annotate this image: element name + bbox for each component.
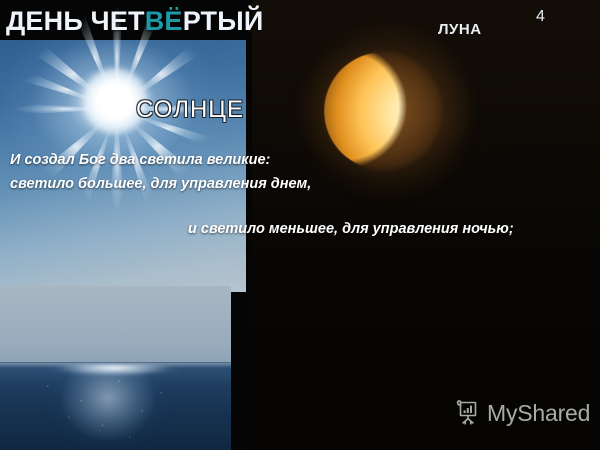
verse-line-3: и светило меньшее, для управления ночью; xyxy=(188,221,514,237)
moon-crescent xyxy=(324,52,442,170)
presentation-chart-icon xyxy=(455,399,481,427)
verse-line-2: светило большее, для управления днем, xyxy=(10,176,311,192)
slide-title-part-1: ДЕНЬ ЧЕТ xyxy=(6,6,145,36)
slide-title-part-2: ВЁ xyxy=(145,6,183,36)
moon-label: ЛУНА xyxy=(438,21,482,38)
sea-glitter-speckles xyxy=(10,368,220,450)
slide-number: 4 xyxy=(536,8,545,26)
myshared-brand-text: MyShared xyxy=(487,402,590,425)
slide-title-part-3: РТЫЙ xyxy=(183,6,264,36)
sea-horizon-line xyxy=(0,362,231,363)
myshared-watermark[interactable]: MyShared xyxy=(455,399,590,427)
presentation-slide: ДЕНЬ ЧЕТВЁРТЫЙ ЛУНА 4 СОЛНЦЕ И создал Бо… xyxy=(0,0,600,450)
sun-label: СОЛНЦЕ xyxy=(136,96,244,124)
slide-title: ДЕНЬ ЧЕТВЁРТЫЙ xyxy=(6,6,264,37)
verse-line-1: И создал Бог два светила великие: xyxy=(10,152,270,168)
sea-photo xyxy=(0,286,231,450)
